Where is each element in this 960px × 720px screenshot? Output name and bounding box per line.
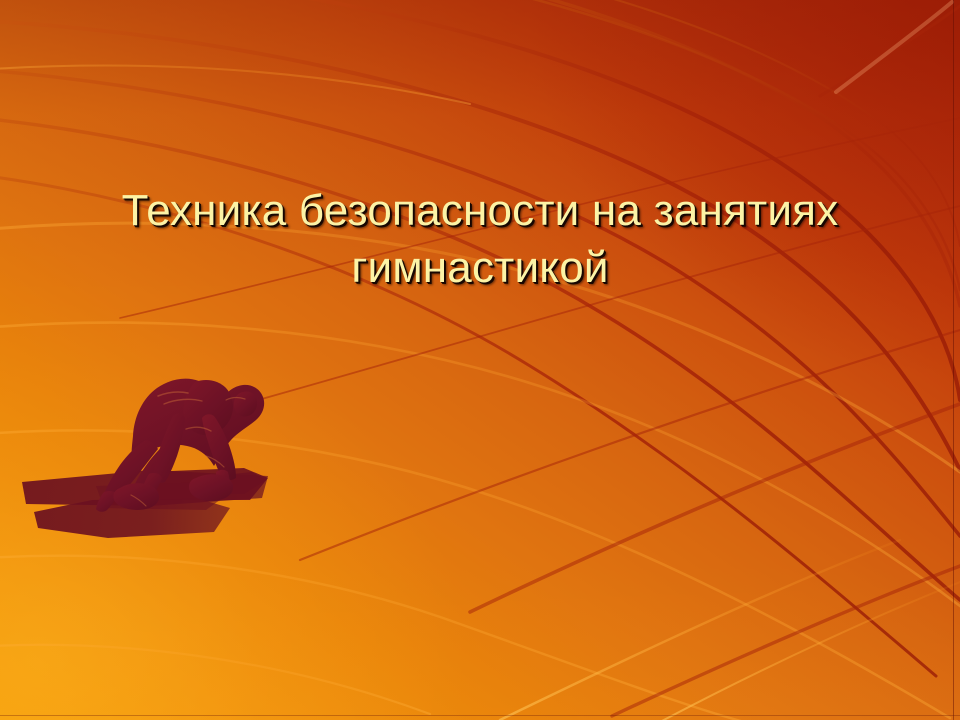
slide-title-block: Техника безопасности на занятиях гимнаст… — [0, 182, 960, 296]
presentation-title-slide: Техника безопасности на занятиях гимнаст… — [0, 0, 960, 720]
sprinter-silhouette-artwork — [0, 0, 960, 720]
page-title: Техника безопасности на занятиях гимнаст… — [0, 182, 960, 296]
